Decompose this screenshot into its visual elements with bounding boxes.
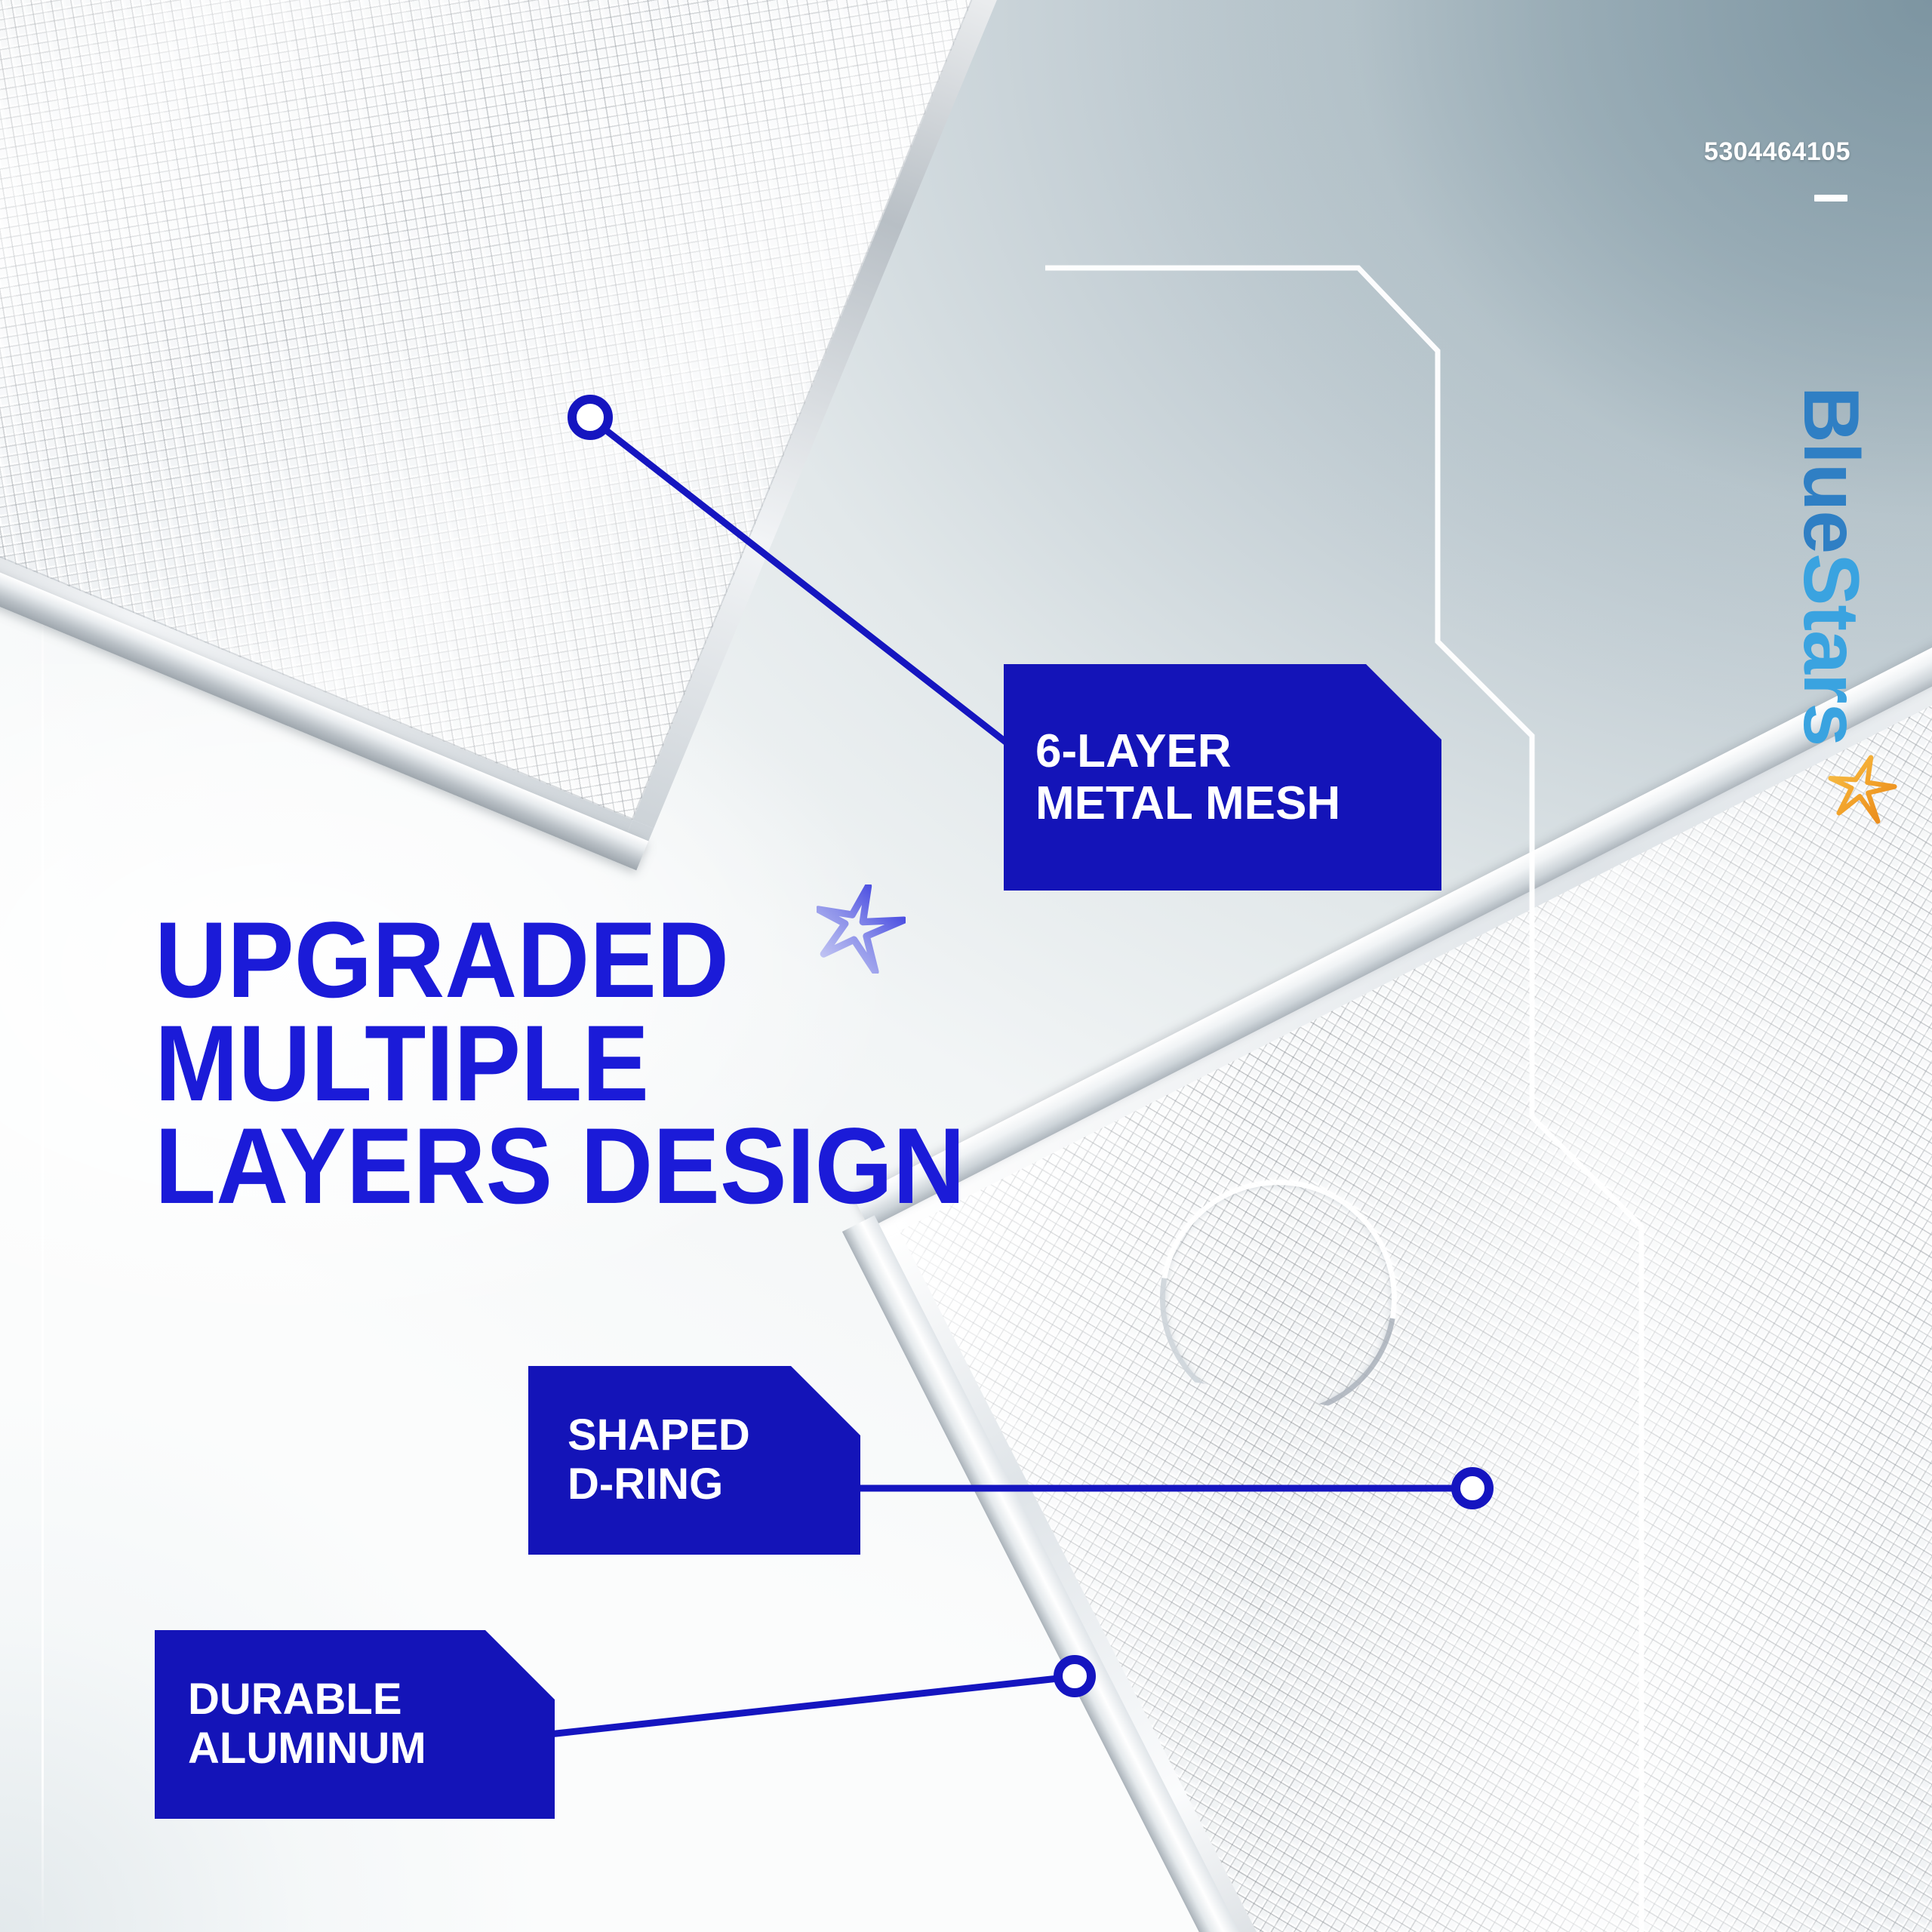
brand-star-icon bbox=[1828, 755, 1897, 824]
badge-line-1: SHAPED bbox=[568, 1411, 860, 1460]
headline-star-icon bbox=[817, 884, 906, 974]
brand-logo: BlueStars bbox=[1786, 325, 1876, 808]
brand-name-first: Blue bbox=[1787, 386, 1875, 553]
headline-line-1: UPGRADED bbox=[155, 909, 1152, 1013]
brand-logo-text: BlueStars bbox=[1792, 386, 1870, 746]
callout-badge-durable-aluminum[interactable]: DURABLE ALUMINUM bbox=[155, 1630, 555, 1819]
callout-badge-metal-mesh[interactable]: 6-LAYER METAL MESH bbox=[1004, 664, 1441, 891]
callout-badge-shaped-d-ring[interactable]: SHAPED D-RING bbox=[528, 1366, 860, 1555]
badge-line-2: ALUMINUM bbox=[188, 1724, 555, 1774]
part-number-underline bbox=[1814, 195, 1847, 202]
headline-line-3: LAYERS DESIGN bbox=[155, 1115, 1152, 1219]
badge-line-1: DURABLE bbox=[188, 1675, 555, 1724]
part-number-label: 5304464105 bbox=[1704, 137, 1850, 167]
brand-name-second: Stars bbox=[1787, 553, 1875, 746]
badge-line-1: 6-LAYER bbox=[1035, 725, 1441, 777]
infographic-canvas: 5304464105 BlueStars UPGRADED MULTIPLE L… bbox=[0, 0, 1932, 1932]
headline-line-2: MULTIPLE bbox=[155, 1013, 1152, 1116]
page-title: UPGRADED MULTIPLE LAYERS DESIGN bbox=[155, 909, 1152, 1219]
left-edge-hairline bbox=[42, 558, 44, 1932]
badge-line-2: D-RING bbox=[568, 1460, 860, 1509]
badge-line-2: METAL MESH bbox=[1035, 777, 1441, 829]
